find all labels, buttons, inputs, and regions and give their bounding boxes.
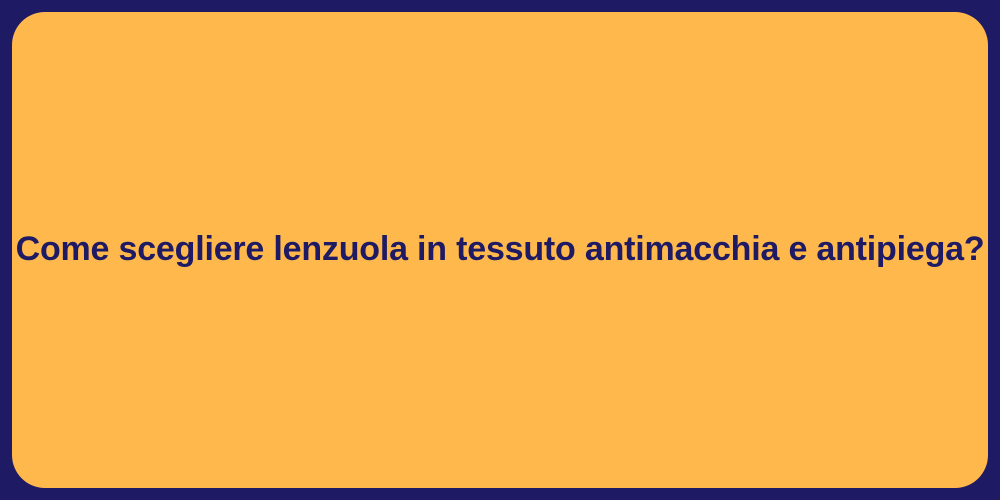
card-panel: Come scegliere lenzuola in tessuto antim… bbox=[12, 12, 988, 488]
card-frame: Come scegliere lenzuola in tessuto antim… bbox=[0, 0, 1000, 500]
page-title: Come scegliere lenzuola in tessuto antim… bbox=[16, 228, 985, 271]
headline-container: Come scegliere lenzuola in tessuto antim… bbox=[12, 228, 988, 271]
